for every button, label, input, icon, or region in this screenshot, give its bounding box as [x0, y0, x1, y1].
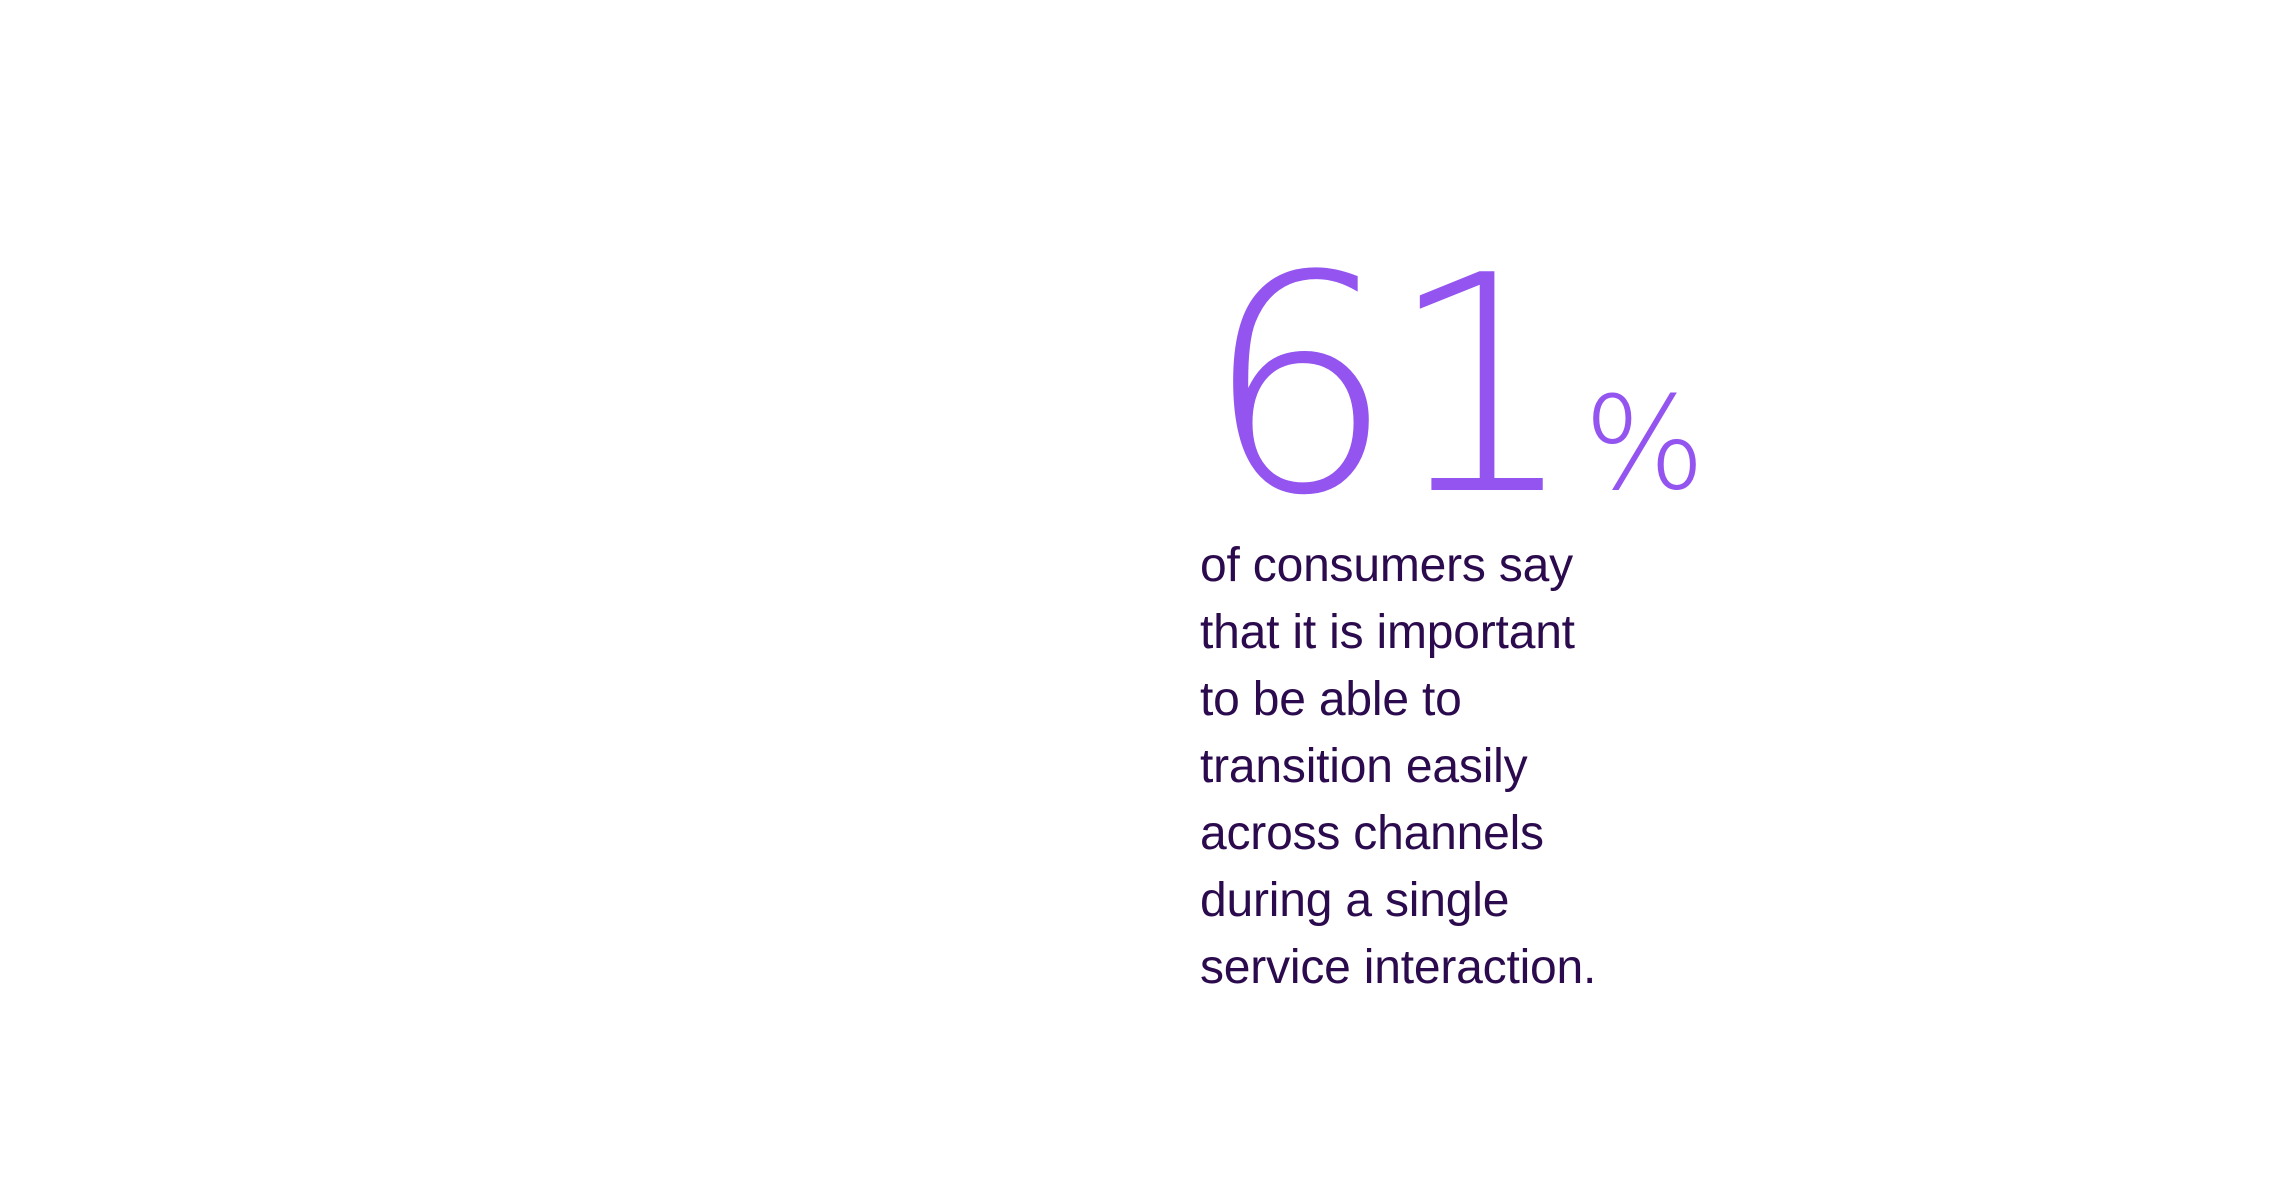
percent-sign: %	[1584, 381, 1706, 509]
statistic-callout: 61 % of consumers say that it is importa…	[1200, 270, 1820, 1001]
statistic-value: 61	[1204, 270, 1570, 504]
statistic-description: of consumers say that it is important to…	[1200, 532, 1600, 1001]
page-canvas: 61 % of consumers say that it is importa…	[0, 0, 2280, 1180]
statistic-figure: 61 %	[1200, 270, 1820, 532]
